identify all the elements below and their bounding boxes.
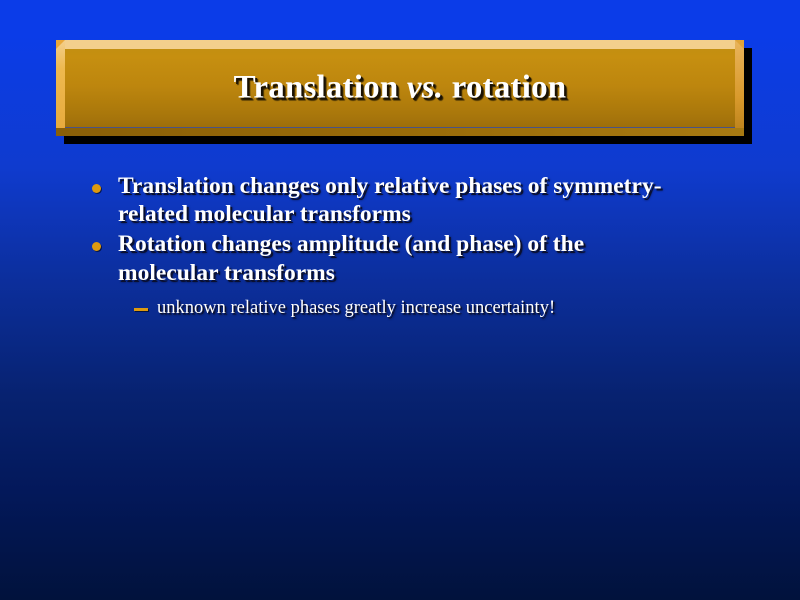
plaque-bevel-bottom xyxy=(56,128,744,136)
presentation-slide: Translation vs. rotation Translation cha… xyxy=(0,0,800,600)
sub-bullet-item-1-text: unknown relative phases greatly increase… xyxy=(157,297,690,320)
slide-body: Translation changes only relative phases… xyxy=(0,172,800,322)
bullet-item-2: Rotation changes amplitude (and phase) o… xyxy=(0,230,800,286)
bullet-item-1: Translation changes only relative phases… xyxy=(0,172,800,228)
slide-title-italic: vs. xyxy=(407,70,443,106)
bullet-item-1-text: Translation changes only relative phases… xyxy=(118,172,680,228)
dash-bullet-icon xyxy=(134,308,148,311)
title-plaque: Translation vs. rotation xyxy=(56,40,744,136)
slide-title-lead: Translation xyxy=(234,70,407,106)
plaque-corner-top-left xyxy=(56,40,65,49)
plaque-corner-top-right xyxy=(735,40,744,49)
slide-title-tail: rotation xyxy=(443,70,566,106)
plaque-inner-line xyxy=(65,127,735,128)
bullet-item-2-text: Rotation changes amplitude (and phase) o… xyxy=(118,230,680,286)
disc-bullet-icon xyxy=(92,242,101,251)
sub-bullet-item-1: unknown relative phases greatly increase… xyxy=(0,297,800,320)
title-plaque-face: Translation vs. rotation xyxy=(56,40,744,136)
plaque-bevel-top xyxy=(56,40,744,49)
disc-bullet-icon xyxy=(92,184,101,193)
slide-title: Translation vs. rotation xyxy=(56,72,744,105)
